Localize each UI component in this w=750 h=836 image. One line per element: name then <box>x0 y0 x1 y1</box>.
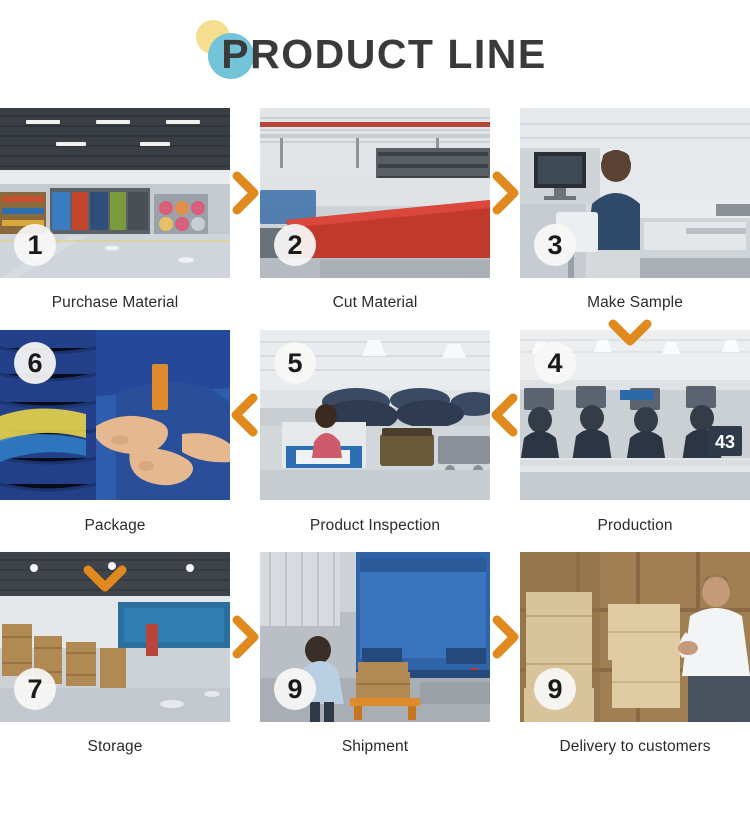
step-photo: 1 <box>0 108 230 278</box>
step-label: Package <box>0 500 230 552</box>
step-badge: 9 <box>274 668 316 710</box>
svg-text:43: 43 <box>715 432 735 452</box>
chevron-down-icon <box>608 317 652 347</box>
step-label: Product Inspection <box>260 500 490 552</box>
process-flow-grid: 1 Purchase Material <box>0 108 750 774</box>
page-header: PRODUCT LINE <box>0 0 750 108</box>
step-badge: 3 <box>534 224 576 266</box>
flow-step-product-inspection[interactable]: 5 Product Inspection <box>260 330 490 552</box>
flow-row-1: 1 Purchase Material <box>0 108 750 330</box>
chevron-right-icon <box>490 615 520 659</box>
step-label: Cut Material <box>260 278 490 328</box>
chevron-left-icon <box>490 393 520 437</box>
chevron-left-icon <box>230 393 260 437</box>
step-label: Shipment <box>260 722 490 772</box>
page-title: PRODUCT LINE <box>203 19 547 89</box>
flow-step-make-sample[interactable]: 3 Make Sample <box>520 108 750 330</box>
step-badge: 6 <box>14 342 56 384</box>
flow-step-package[interactable]: 6 Package <box>0 330 230 552</box>
chevron-down-icon <box>83 563 127 593</box>
step-badge: 7 <box>14 668 56 710</box>
flow-step-cut-material[interactable]: 2 Cut Material <box>260 108 490 330</box>
step-label: Storage <box>0 722 230 772</box>
step-photo: 3 <box>520 108 750 278</box>
chevron-right-icon <box>230 171 260 215</box>
step-photo: 5 <box>260 330 490 500</box>
product-line-infographic: PRODUCT LINE <box>0 0 750 836</box>
flow-row-2: 6 Package <box>0 330 750 552</box>
step-photo: 9 <box>520 552 750 722</box>
step-photo: 6 <box>0 330 230 500</box>
step-badge: 9 <box>534 668 576 710</box>
chevron-right-icon <box>490 171 520 215</box>
step-photo: 9 <box>260 552 490 722</box>
flow-step-shipment[interactable]: 9 Shipment <box>260 552 490 774</box>
step-badge: 1 <box>14 224 56 266</box>
step-photo: 43 4 <box>520 330 750 500</box>
flow-step-production[interactable]: 43 4 Production <box>520 330 750 552</box>
step-label: Purchase Material <box>0 278 230 328</box>
flow-step-purchase-material[interactable]: 1 Purchase Material <box>0 108 230 330</box>
chevron-right-icon <box>230 615 260 659</box>
step-badge: 5 <box>274 342 316 384</box>
flow-step-delivery-to-customers[interactable]: 9 Delivery to customers <box>520 552 750 774</box>
step-badge: 2 <box>274 224 316 266</box>
step-label: Production <box>520 500 750 552</box>
step-photo: 2 <box>260 108 490 278</box>
title-group: PRODUCT LINE <box>203 19 547 89</box>
step-badge: 4 <box>534 342 576 384</box>
step-label: Delivery to customers <box>520 722 750 772</box>
